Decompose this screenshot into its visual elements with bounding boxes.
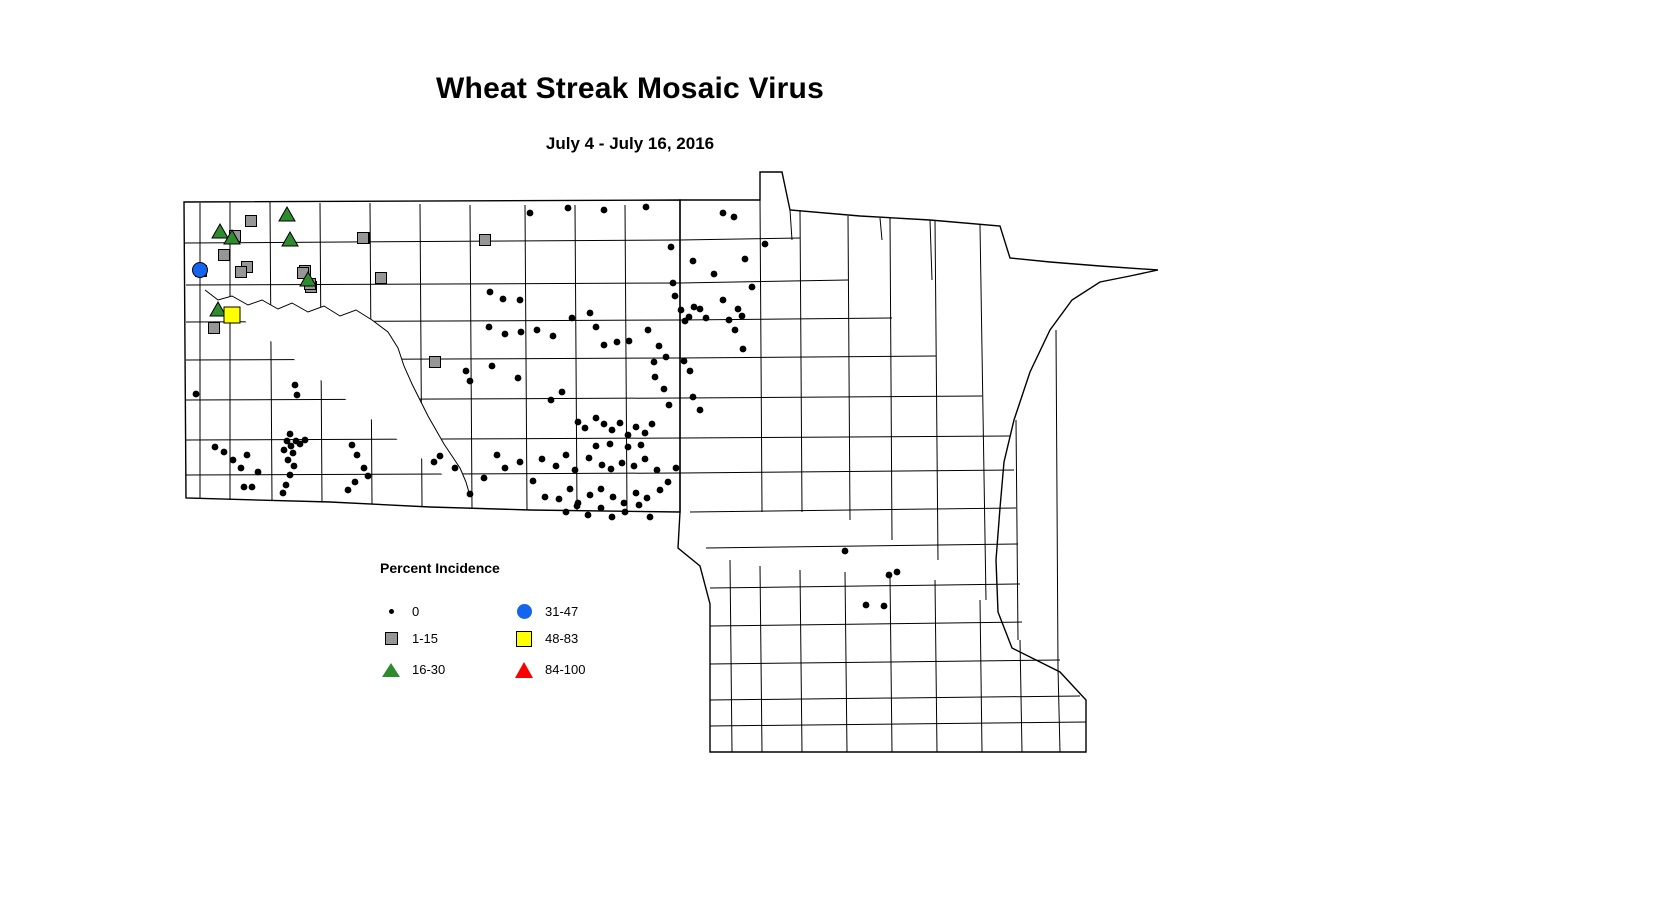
marker-zero: [500, 296, 507, 303]
marker-gray-square: [376, 273, 387, 284]
marker-zero: [572, 467, 579, 474]
marker-zero: [255, 469, 262, 476]
marker-green-triangle: [282, 232, 298, 246]
marker-zero: [244, 452, 251, 459]
marker-zero: [720, 297, 727, 304]
blue-circle-icon: [511, 604, 537, 619]
legend-label: 48-83: [545, 631, 578, 646]
marker-zero: [518, 329, 525, 336]
marker-zero: [354, 452, 361, 459]
marker-zero: [697, 407, 704, 414]
marker-zero: [559, 389, 566, 396]
marker-zero: [487, 289, 494, 296]
marker-zero: [842, 548, 849, 555]
marker-zero: [881, 603, 888, 610]
marker-zero: [574, 503, 581, 510]
legend-item-5: 84-100: [511, 662, 644, 678]
marker-zero: [287, 472, 294, 479]
marker-zero: [608, 466, 615, 473]
marker-zero: [452, 465, 459, 472]
marker-zero: [575, 419, 582, 426]
marker-zero: [638, 442, 645, 449]
marker-zero: [230, 457, 237, 464]
legend-row: 0 31-47: [378, 598, 698, 625]
legend-item-2: 16-30: [378, 662, 511, 677]
marker-zero: [527, 210, 534, 217]
marker-zero: [294, 392, 301, 399]
marker-gray-square: [209, 323, 220, 334]
marker-zero: [585, 512, 592, 519]
marker-gray-square: [246, 216, 257, 227]
marker-zero: [361, 465, 368, 472]
marker-zero: [644, 495, 651, 502]
marker-zero: [517, 297, 524, 304]
marker-zero: [742, 256, 749, 263]
legend-label: 0: [412, 604, 419, 619]
marker-zero: [534, 327, 541, 334]
page-title: Wheat Streak Mosaic Virus: [0, 72, 1260, 106]
marker-zero: [665, 479, 672, 486]
marker-zero: [352, 479, 359, 486]
marker-yellow-square: [224, 307, 240, 323]
marker-zero: [567, 486, 574, 493]
legend-item-4: 48-83: [511, 631, 644, 647]
marker-zero: [687, 368, 694, 375]
marker-zero: [290, 450, 297, 457]
marker-zero: [610, 494, 617, 501]
marker-gray-square: [236, 267, 247, 278]
marker-zero: [515, 375, 522, 382]
marker-zero: [553, 463, 560, 470]
legend-title: Percent Incidence: [380, 560, 698, 576]
marker-green-triangle: [212, 224, 228, 238]
marker-zero: [285, 457, 292, 464]
marker-zero: [281, 447, 288, 454]
marker-zero: [651, 359, 658, 366]
marker-zero: [631, 463, 638, 470]
marker-gray-square: [480, 235, 491, 246]
marker-zero: [556, 496, 563, 503]
marker-zero: [886, 572, 893, 579]
marker-zero: [661, 386, 668, 393]
marker-zero: [587, 492, 594, 499]
marker-zero: [599, 462, 606, 469]
marker-zero: [288, 443, 295, 450]
marker-zero: [365, 473, 372, 480]
marker-green-triangle: [279, 207, 295, 221]
marker-zero: [863, 602, 870, 609]
marker-zero: [642, 456, 649, 463]
marker-zero: [711, 271, 718, 278]
green-triangle-icon: [378, 663, 404, 677]
marker-zero: [649, 421, 656, 428]
marker-zero: [607, 441, 614, 448]
marker-zero: [749, 284, 756, 291]
marker-zero: [609, 514, 616, 521]
marker-zero: [280, 490, 287, 497]
legend-row: 16-30 84-100: [378, 656, 698, 683]
marker-zero: [502, 331, 509, 338]
marker-zero: [636, 502, 643, 509]
marker-zero: [598, 486, 605, 493]
marker-zero: [740, 346, 747, 353]
marker-zero: [643, 204, 650, 211]
marker-zero: [762, 241, 769, 248]
marker-zero: [517, 459, 524, 466]
marker-zero: [663, 354, 670, 361]
page-subtitle: July 4 - July 16, 2016: [0, 134, 1260, 154]
marker-zero: [703, 315, 710, 322]
marker-zero: [221, 449, 228, 456]
marker-zero: [614, 339, 621, 346]
marker-zero: [732, 327, 739, 334]
legend-item-0: 0: [378, 604, 511, 619]
marker-zero: [563, 509, 570, 516]
marker-zero: [617, 420, 624, 427]
marker-zero: [494, 452, 501, 459]
marker-zero: [601, 207, 608, 214]
marker-zero: [437, 453, 444, 460]
marker-zero: [601, 421, 608, 428]
marker-zero: [349, 442, 356, 449]
marker-zero: [690, 258, 697, 265]
marker-zero: [548, 397, 555, 404]
marker-zero: [542, 494, 549, 501]
legend-item-1: 1-15: [378, 631, 511, 646]
marker-zero: [283, 482, 290, 489]
marker-zero: [502, 465, 509, 472]
legend-label: 84-100: [545, 662, 585, 677]
marker-zero: [598, 505, 605, 512]
marker-zero: [720, 210, 727, 217]
marker-zero: [563, 452, 570, 459]
marker-zero: [593, 415, 600, 422]
marker-zero: [302, 437, 309, 444]
marker-zero: [193, 391, 200, 398]
marker-zero: [481, 475, 488, 482]
marker-gray-square: [358, 233, 369, 244]
marker-zero: [657, 487, 664, 494]
marker-zero: [894, 569, 901, 576]
marker-zero: [652, 374, 659, 381]
marker-zero: [586, 455, 593, 462]
marker-zero: [681, 358, 688, 365]
marker-layer-zero: [193, 204, 901, 610]
marker-zero: [686, 314, 693, 321]
marker-zero: [670, 280, 677, 287]
marker-zero: [601, 342, 608, 349]
marker-gray-square: [219, 250, 230, 261]
marker-zero: [291, 463, 298, 470]
legend-label: 1-15: [412, 631, 438, 646]
marker-zero: [550, 333, 557, 340]
legend-label: 16-30: [412, 662, 445, 677]
marker-zero: [625, 444, 632, 451]
marker-layer-blue: [193, 263, 208, 278]
marker-layer-yellow: [224, 307, 240, 323]
marker-zero: [678, 307, 685, 314]
marker-zero: [249, 484, 256, 491]
marker-zero: [539, 456, 546, 463]
red-triangle-icon: [511, 662, 537, 678]
marker-zero: [735, 306, 742, 313]
marker-zero: [212, 444, 219, 451]
marker-zero: [587, 310, 594, 317]
marker-zero: [654, 467, 661, 474]
marker-zero: [697, 306, 704, 313]
marker-zero: [489, 363, 496, 370]
marker-zero: [238, 465, 245, 472]
marker-zero: [467, 378, 474, 385]
marker-zero: [463, 368, 470, 375]
yellow-square-icon: [511, 631, 537, 647]
legend-row: 1-15 48-83: [378, 625, 698, 652]
marker-zero: [666, 402, 673, 409]
marker-zero: [633, 490, 640, 497]
marker-zero: [582, 425, 589, 432]
marker-zero: [486, 324, 493, 331]
marker-zero: [619, 460, 626, 467]
marker-zero: [647, 514, 654, 521]
marker-zero: [672, 293, 679, 300]
marker-zero: [642, 430, 649, 437]
marker-zero: [431, 459, 438, 466]
legend-label: 31-47: [545, 604, 578, 619]
marker-zero: [287, 431, 294, 438]
legend: Percent Incidence 0 31-47 1-15 48-83 16-…: [378, 560, 698, 683]
marker-zero: [609, 427, 616, 434]
marker-zero: [569, 315, 576, 322]
marker-zero: [668, 244, 675, 251]
marker-zero: [467, 491, 474, 498]
marker-zero: [673, 465, 680, 472]
marker-zero: [625, 432, 632, 439]
marker-zero: [241, 484, 248, 491]
marker-zero: [726, 317, 733, 324]
legend-item-3: 31-47: [511, 604, 644, 619]
marker-zero: [565, 205, 572, 212]
small-black-dot-icon: [378, 609, 404, 614]
marker-zero: [622, 509, 629, 516]
marker-zero: [656, 343, 663, 350]
marker-zero: [731, 214, 738, 221]
marker-zero: [691, 304, 698, 311]
marker-zero: [739, 313, 746, 320]
marker-gray-square: [430, 357, 441, 368]
marker-zero: [645, 327, 652, 334]
marker-zero: [593, 324, 600, 331]
marker-zero: [345, 487, 352, 494]
marker-zero: [626, 338, 633, 345]
gray-square-icon: [378, 632, 404, 645]
marker-zero: [690, 394, 697, 401]
marker-zero: [292, 382, 299, 389]
marker-zero: [530, 478, 537, 485]
marker-blue-circle: [193, 263, 208, 278]
marker-zero: [593, 443, 600, 450]
marker-zero: [621, 500, 628, 507]
marker-zero: [633, 424, 640, 431]
